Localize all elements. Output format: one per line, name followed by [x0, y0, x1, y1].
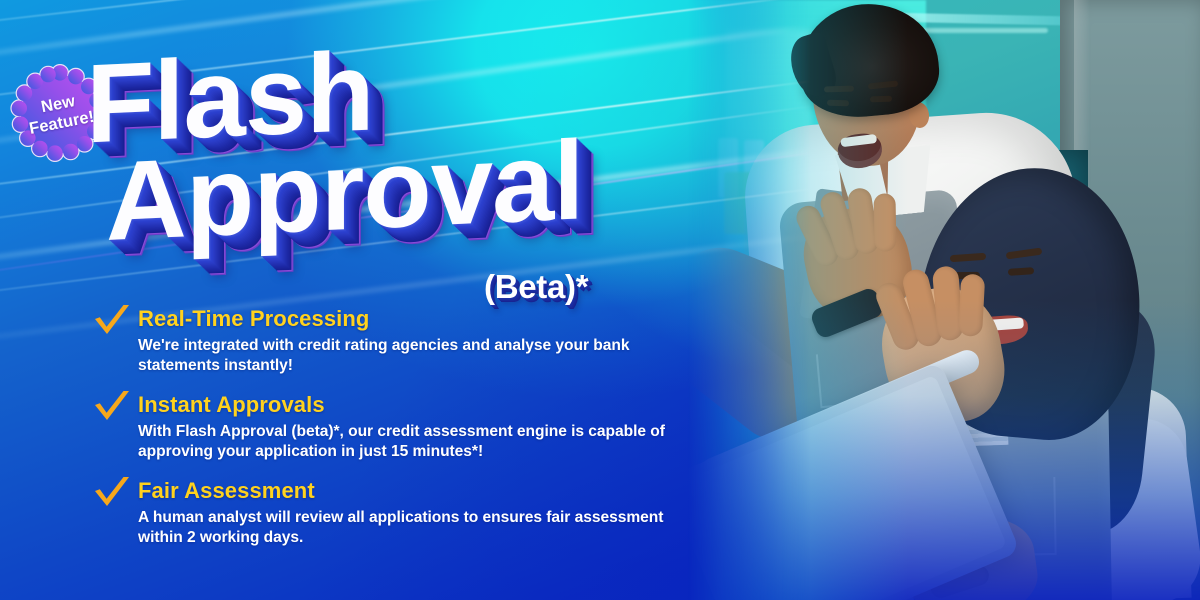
- check-icon: [92, 304, 132, 338]
- photo-man-eye: [870, 96, 892, 103]
- check-icon: [92, 476, 132, 510]
- check-icon: [92, 390, 132, 424]
- photo-man-eye: [827, 100, 849, 107]
- feature-heading: Instant Approvals: [138, 392, 692, 418]
- feature-item: Fair Assessment A human analyst will rev…: [92, 478, 692, 548]
- page-title: Flash Approval: [82, 36, 722, 241]
- photo-man-eyebrow: [824, 85, 854, 92]
- feature-heading: Real-Time Processing: [138, 306, 692, 332]
- title-beta-label: (Beta)*: [484, 268, 588, 306]
- feature-body: With Flash Approval (beta)*, our credit …: [138, 422, 692, 462]
- feature-item: Real-Time Processing We're integrated wi…: [92, 306, 692, 376]
- feature-body: A human analyst will review all applicat…: [138, 508, 692, 548]
- feature-list: Real-Time Processing We're integrated wi…: [92, 306, 692, 564]
- hero-photo-couple-with-tablet: [688, 0, 1200, 600]
- feature-item: Instant Approvals With Flash Approval (b…: [92, 392, 692, 462]
- feature-heading: Fair Assessment: [138, 478, 692, 504]
- feature-body: We're integrated with credit rating agen…: [138, 336, 692, 376]
- title-line-approval: Approval: [106, 120, 722, 255]
- promo-banner: New Feature! Flash Approval (Beta)* Real…: [0, 0, 1200, 600]
